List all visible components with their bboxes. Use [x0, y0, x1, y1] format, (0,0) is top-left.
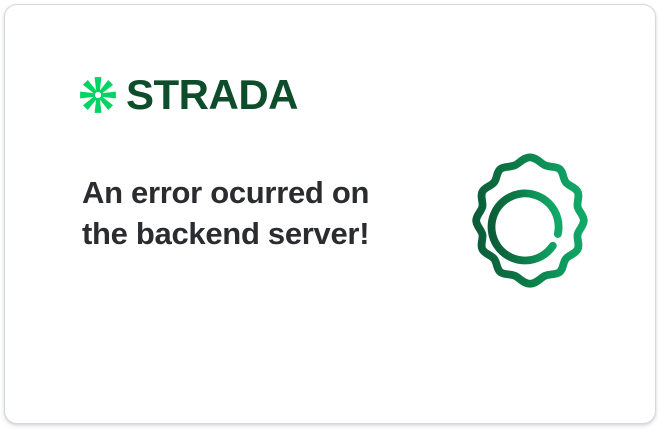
- gear-inner-ring: [492, 193, 559, 260]
- error-page: STRADA An error ocurred on the backend s…: [0, 0, 666, 436]
- gear-icon: [452, 148, 608, 304]
- brand-logo: STRADA: [79, 73, 298, 117]
- error-message: An error ocurred on the backend server!: [82, 172, 382, 254]
- error-card: STRADA An error ocurred on the backend s…: [4, 4, 656, 424]
- brand-wordmark: STRADA: [126, 74, 298, 116]
- strada-asterisk-icon: [79, 76, 117, 114]
